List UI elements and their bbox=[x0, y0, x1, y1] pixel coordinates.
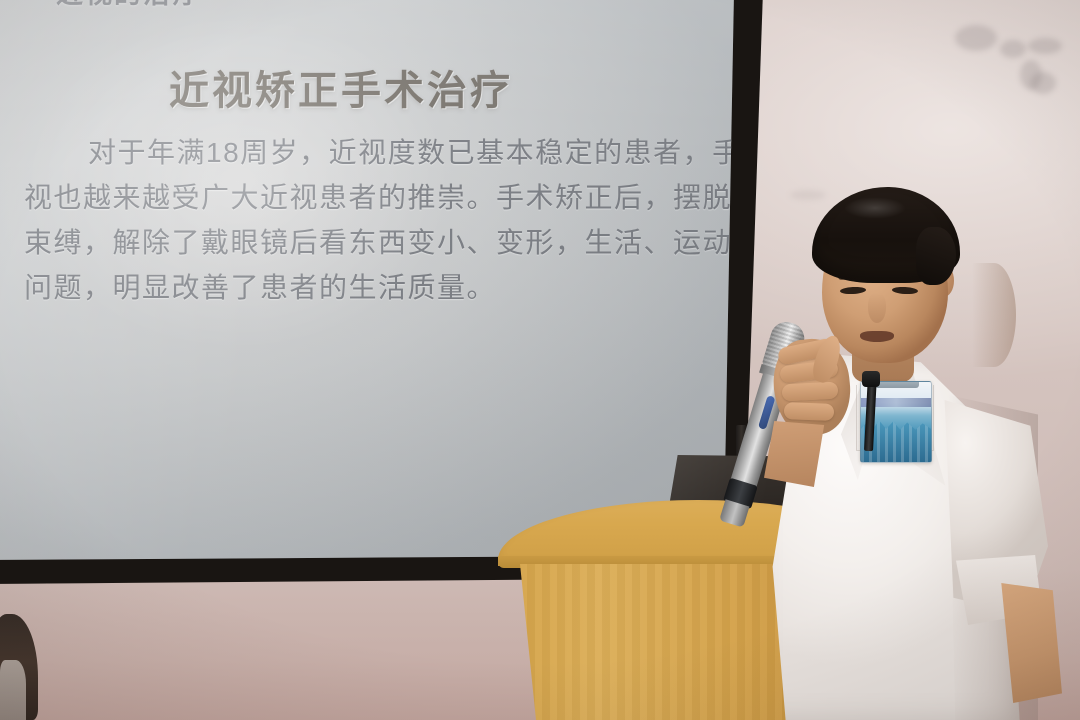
pen-cap bbox=[862, 371, 880, 387]
presenter-mouth bbox=[860, 331, 894, 342]
presenter-hair-highlight bbox=[844, 197, 906, 219]
slide-header-label: 近视的治疗 bbox=[56, 0, 201, 11]
wall-smudge bbox=[955, 25, 997, 51]
wall-smudge bbox=[1028, 38, 1062, 54]
presenter-finger bbox=[782, 382, 839, 402]
slide-body-line: 问题，明显改善了患者的生活质量。 bbox=[24, 265, 684, 310]
slide-body: 对于年满18周岁，近视度数已基本稳定的患者，手术矫正近 视也越来越受广大近视患者… bbox=[24, 130, 684, 310]
photo-scene: 近视的治疗 近视矫正手术治疗 对于年满18周岁，近视度数已基本稳定的患者，手术矫… bbox=[0, 0, 1080, 720]
slide-body-line: 视也越来越受广大近视患者的推崇。手术矫正后，摆脱了眼镜的 bbox=[24, 175, 684, 220]
projection-screen-surface: 近视的治疗 近视矫正手术治疗 对于年满18周岁，近视度数已基本稳定的患者，手术矫… bbox=[0, 0, 734, 560]
double-chevron-icon bbox=[4, 0, 42, 7]
presenter-nose bbox=[868, 293, 886, 323]
slide-title: 近视矫正手术治疗 bbox=[0, 58, 694, 116]
projection-screen-frame: 近视的治疗 近视矫正手术治疗 对于年满18周岁，近视度数已基本稳定的患者，手术矫… bbox=[0, 0, 763, 584]
presenter-finger bbox=[784, 402, 835, 421]
slide-body-line: 束缚，解除了戴眼镜后看东西变小、变形，生活、运动受限制等 bbox=[24, 220, 684, 265]
slide-body-line: 对于年满18周岁，近视度数已基本稳定的患者，手术矫正近 bbox=[24, 130, 684, 175]
foreground-object bbox=[0, 660, 26, 720]
wall-smudge bbox=[1030, 72, 1056, 94]
wall-smudge bbox=[1000, 40, 1026, 58]
slide-header: 近视的治疗 bbox=[4, 0, 201, 11]
presenter bbox=[760, 185, 1080, 720]
